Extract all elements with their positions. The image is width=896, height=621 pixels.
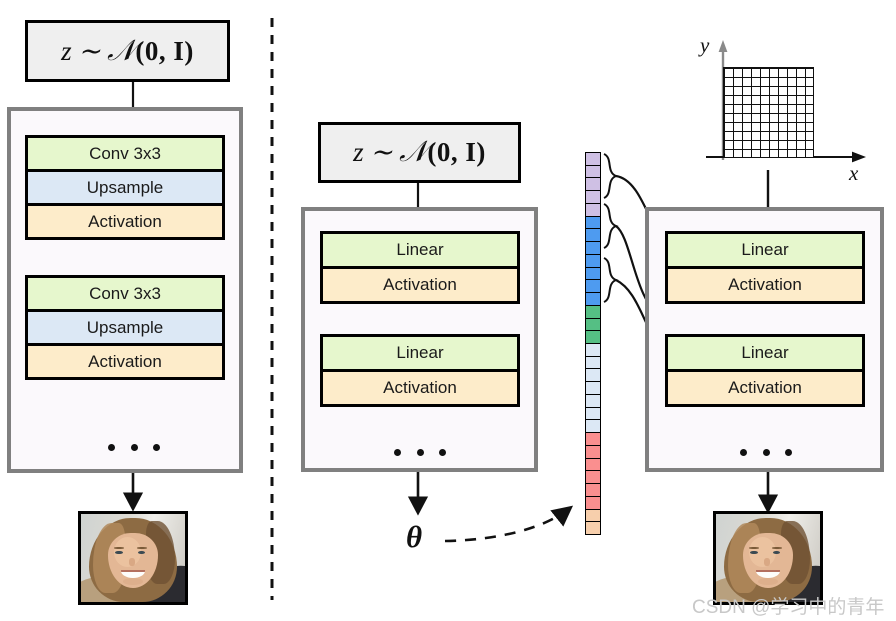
linear-layer-label: Linear (323, 234, 517, 266)
activation-layer-label: Activation (668, 369, 862, 404)
vector-cell (586, 229, 600, 242)
dot (439, 449, 446, 456)
vector-cell (586, 319, 600, 332)
vector-cell (586, 471, 600, 484)
upsample-layer-label: Upsample (28, 309, 222, 343)
latent-formula-middle: z ∼ 𝒩(0, I) (353, 136, 486, 169)
activation-layer-label: Activation (323, 266, 517, 301)
vector-cell (586, 268, 600, 281)
theta-to-vector-arrow (445, 508, 570, 541)
vector-cell (586, 178, 600, 191)
vector-cell (586, 510, 600, 523)
vector-cell (586, 344, 600, 357)
vector-cell (586, 446, 600, 459)
vector-cell (586, 408, 600, 421)
dot (740, 449, 747, 456)
vector-cell (586, 242, 600, 255)
diagram-canvas: z ∼ 𝒩(0, I) Conv 3x3 Upsample Activation… (0, 0, 896, 621)
conv-ellipsis (108, 443, 160, 451)
csdn-watermark: CSDN @学习中的青年 (692, 592, 884, 619)
coord-mlp-block-1: Linear Activation (665, 231, 865, 304)
mlp-block-2: Linear Activation (320, 334, 520, 407)
vector-cell (586, 166, 600, 179)
coordinate-grid (700, 40, 870, 165)
mlp-block-1: Linear Activation (320, 231, 520, 304)
activation-layer-label: Activation (28, 203, 222, 237)
upsample-layer-label: Upsample (28, 169, 222, 203)
vector-cell (586, 369, 600, 382)
linear-layer-label: Linear (668, 234, 862, 266)
theta-symbol: θ (406, 519, 422, 555)
coord-mlp-block-2: Linear Activation (665, 334, 865, 407)
vector-cell (586, 522, 600, 534)
dot (394, 449, 401, 456)
theta-parameter-vector (585, 152, 601, 535)
vector-cell (586, 459, 600, 472)
latent-box-middle: z ∼ 𝒩(0, I) (318, 122, 521, 183)
conv-layer-label: Conv 3x3 (28, 278, 222, 309)
vector-cell (586, 357, 600, 370)
latent-formula-left: z ∼ 𝒩(0, I) (61, 35, 194, 68)
conv-block-2: Conv 3x3 Upsample Activation (25, 275, 225, 380)
vector-cell (586, 217, 600, 230)
coord-mlp-ellipsis (740, 448, 792, 456)
grid-x-axis-label: x (849, 161, 858, 186)
vector-cell (586, 331, 600, 344)
conv-layer-label: Conv 3x3 (28, 138, 222, 169)
latent-box-left: z ∼ 𝒩(0, I) (25, 20, 230, 82)
grid-y-axis-label: y (700, 33, 709, 58)
dot (108, 444, 115, 451)
generated-face-right (713, 511, 823, 605)
activation-layer-label: Activation (323, 369, 517, 404)
vector-cell (586, 395, 600, 408)
vector-cell (586, 191, 600, 204)
dot (417, 449, 424, 456)
activation-layer-label: Activation (668, 266, 862, 301)
vector-cell (586, 382, 600, 395)
activation-layer-label: Activation (28, 343, 222, 377)
vector-cell (586, 306, 600, 319)
conv-block-1: Conv 3x3 Upsample Activation (25, 135, 225, 240)
vector-cell (586, 255, 600, 268)
vector-cell (586, 433, 600, 446)
mlp-ellipsis (394, 448, 446, 456)
vector-cell (586, 420, 600, 433)
dot (785, 449, 792, 456)
vector-cell (586, 280, 600, 293)
linear-layer-label: Linear (323, 337, 517, 369)
dot (131, 444, 138, 451)
dot (153, 444, 160, 451)
vector-cell (586, 497, 600, 510)
grid-cells (723, 67, 814, 158)
vector-cell (586, 204, 600, 217)
vector-cell (586, 484, 600, 497)
vector-cell (586, 293, 600, 306)
generated-face-left (78, 511, 188, 605)
vector-cell (586, 153, 600, 166)
dot (763, 449, 770, 456)
linear-layer-label: Linear (668, 337, 862, 369)
